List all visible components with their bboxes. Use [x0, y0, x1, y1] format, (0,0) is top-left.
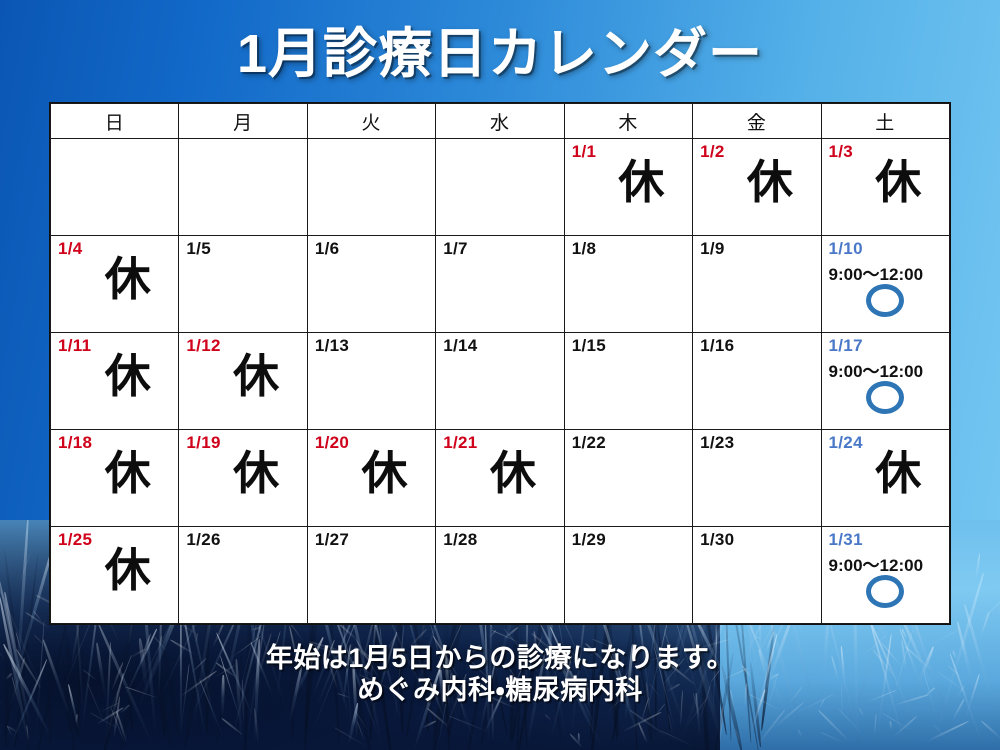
calendar-day-cell[interactable]: 1/4休: [51, 236, 179, 333]
calendar-day-cell[interactable]: 1/15: [564, 333, 692, 430]
day-date-label: 1/10: [829, 240, 863, 257]
day-date-label: 1/5: [186, 240, 211, 257]
calendar-day-cell[interactable]: 1/2休: [693, 139, 821, 236]
day-date-label: 1/1: [572, 143, 597, 160]
day-date-label: 1/18: [58, 434, 92, 451]
closed-mark: 休: [51, 256, 178, 302]
open-circle-icon: [866, 381, 904, 414]
day-date-label: 1/21: [443, 434, 477, 451]
closed-mark: 休: [436, 450, 563, 496]
calendar-day-cell[interactable]: 1/16: [693, 333, 821, 430]
calendar-day-cell[interactable]: 1/18休: [51, 430, 179, 527]
day-date-label: 1/12: [186, 337, 220, 354]
day-date-label: 1/31: [829, 531, 863, 548]
calendar-day-cell[interactable]: 1/29: [564, 527, 692, 624]
day-date-label: 1/16: [700, 337, 734, 354]
weekday-header-weekday-5: 金: [693, 104, 821, 139]
day-date-label: 1/25: [58, 531, 92, 548]
opening-hours: 9:00～12:00: [829, 260, 945, 285]
calendar-day-cell[interactable]: 1/5: [179, 236, 307, 333]
calendar-day-cell[interactable]: 1/21休: [436, 430, 564, 527]
calendar-day-cell[interactable]: 1/11休: [51, 333, 179, 430]
day-date-label: 1/11: [58, 337, 91, 354]
day-date-label: 1/28: [443, 531, 477, 548]
footer-line-0: 年始は1月5日からの診療になります。: [0, 643, 1000, 675]
closed-mark: 休: [51, 450, 178, 496]
calendar-day-cell[interactable]: 1/6: [307, 236, 435, 333]
calendar-day-cell[interactable]: [179, 139, 307, 236]
frost-twig-shape: [889, 721, 891, 729]
calendar-day-cell[interactable]: 1/3休: [821, 139, 949, 236]
calendar-day-cell[interactable]: 1/14: [436, 333, 564, 430]
opening-hours: 9:00～12:00: [829, 357, 945, 382]
closed-mark: 休: [179, 450, 306, 496]
calendar-week-row: 1/4休1/51/61/71/81/91/109:00～12:00: [51, 236, 950, 333]
calendar-day-cell[interactable]: [51, 139, 179, 236]
calendar-table: 日月火水木金土 1/1休1/2休1/3休1/4休1/51/61/71/81/91…: [50, 103, 950, 624]
calendar-day-cell[interactable]: 1/8: [564, 236, 692, 333]
calendar-day-cell[interactable]: 1/26: [179, 527, 307, 624]
page-title: 1月診療日カレンダー: [0, 26, 1000, 83]
weekday-header-row: 日月火水木金土: [51, 104, 950, 139]
day-date-label: 1/4: [58, 240, 83, 257]
calendar-body: 1/1休1/2休1/3休1/4休1/51/61/71/81/91/109:00～…: [51, 139, 950, 624]
closed-mark: 休: [308, 450, 435, 496]
weekday-header-weekday-1: 月: [179, 104, 307, 139]
calendar-poster: 1月診療日カレンダー 日月火水木金土 1/1休1/2休1/3休1/4休1/51/…: [0, 0, 1000, 750]
calendar-day-cell[interactable]: 1/19休: [179, 430, 307, 527]
calendar-day-cell[interactable]: 1/28: [436, 527, 564, 624]
day-date-label: 1/17: [829, 337, 863, 354]
calendar-day-cell[interactable]: 1/9: [693, 236, 821, 333]
day-date-label: 1/30: [700, 531, 734, 548]
day-date-label: 1/15: [572, 337, 606, 354]
open-circle-icon: [866, 284, 904, 317]
calendar-day-cell[interactable]: 1/7: [436, 236, 564, 333]
closed-mark: 休: [822, 450, 949, 496]
day-date-label: 1/27: [315, 531, 349, 548]
closed-mark: 休: [179, 353, 306, 399]
calendar-day-cell[interactable]: 1/22: [564, 430, 692, 527]
day-date-label: 1/20: [315, 434, 349, 451]
calendar-week-row: 1/25休1/261/271/281/291/301/319:00～12:00: [51, 527, 950, 624]
day-date-label: 1/22: [572, 434, 606, 451]
calendar-header: 日月火水木金土: [51, 104, 950, 139]
calendar-day-cell[interactable]: 1/25休: [51, 527, 179, 624]
calendar-day-cell[interactable]: 1/13: [307, 333, 435, 430]
calendar-day-cell[interactable]: [307, 139, 435, 236]
closed-mark: 休: [693, 159, 820, 205]
calendar-container: 日月火水木金土 1/1休1/2休1/3休1/4休1/51/61/71/81/91…: [50, 103, 950, 624]
calendar-day-cell[interactable]: 1/27: [307, 527, 435, 624]
closed-mark: 休: [51, 353, 178, 399]
opening-hours: 9:00～12:00: [829, 551, 945, 576]
calendar-day-cell[interactable]: 1/24休: [821, 430, 949, 527]
calendar-day-cell[interactable]: 1/20休: [307, 430, 435, 527]
closed-mark: 休: [822, 159, 949, 205]
day-date-label: 1/14: [443, 337, 477, 354]
day-date-label: 1/8: [572, 240, 597, 257]
calendar-week-row: 1/1休1/2休1/3休: [51, 139, 950, 236]
closed-mark: 休: [51, 547, 178, 593]
calendar-day-cell[interactable]: 1/12休: [179, 333, 307, 430]
open-circle-icon: [866, 575, 904, 608]
calendar-day-cell[interactable]: 1/109:00～12:00: [821, 236, 949, 333]
calendar-day-cell[interactable]: 1/319:00～12:00: [821, 527, 949, 624]
day-date-label: 1/6: [315, 240, 340, 257]
calendar-week-row: 1/18休1/19休1/20休1/21休1/221/231/24休: [51, 430, 950, 527]
closed-mark: 休: [565, 159, 692, 205]
day-date-label: 1/13: [315, 337, 349, 354]
day-date-label: 1/19: [186, 434, 220, 451]
day-date-label: 1/7: [443, 240, 468, 257]
footer-notes: 年始は1月5日からの診療になります。めぐみ内科・糖尿病内科: [0, 643, 1000, 707]
calendar-day-cell[interactable]: 1/23: [693, 430, 821, 527]
day-date-label: 1/29: [572, 531, 606, 548]
calendar-day-cell[interactable]: 1/1休: [564, 139, 692, 236]
weekday-header-weekday-3: 水: [436, 104, 564, 139]
weekday-header-weekday-4: 木: [564, 104, 692, 139]
day-date-label: 1/23: [700, 434, 734, 451]
day-date-label: 1/3: [829, 143, 854, 160]
day-date-label: 1/9: [700, 240, 725, 257]
calendar-week-row: 1/11休1/12休1/131/141/151/161/179:00～12:00: [51, 333, 950, 430]
weekday-header-weekday-2: 火: [307, 104, 435, 139]
calendar-day-cell[interactable]: 1/179:00～12:00: [821, 333, 949, 430]
weekday-header-saturday-6: 土: [821, 104, 949, 139]
day-date-label: 1/24: [829, 434, 863, 451]
day-date-label: 1/26: [186, 531, 220, 548]
calendar-day-cell[interactable]: 1/30: [693, 527, 821, 624]
footer-line-1: めぐみ内科・糖尿病内科: [0, 675, 1000, 707]
day-date-label: 1/2: [700, 143, 725, 160]
weekday-header-sunday-0: 日: [51, 104, 179, 139]
calendar-day-cell[interactable]: [436, 139, 564, 236]
